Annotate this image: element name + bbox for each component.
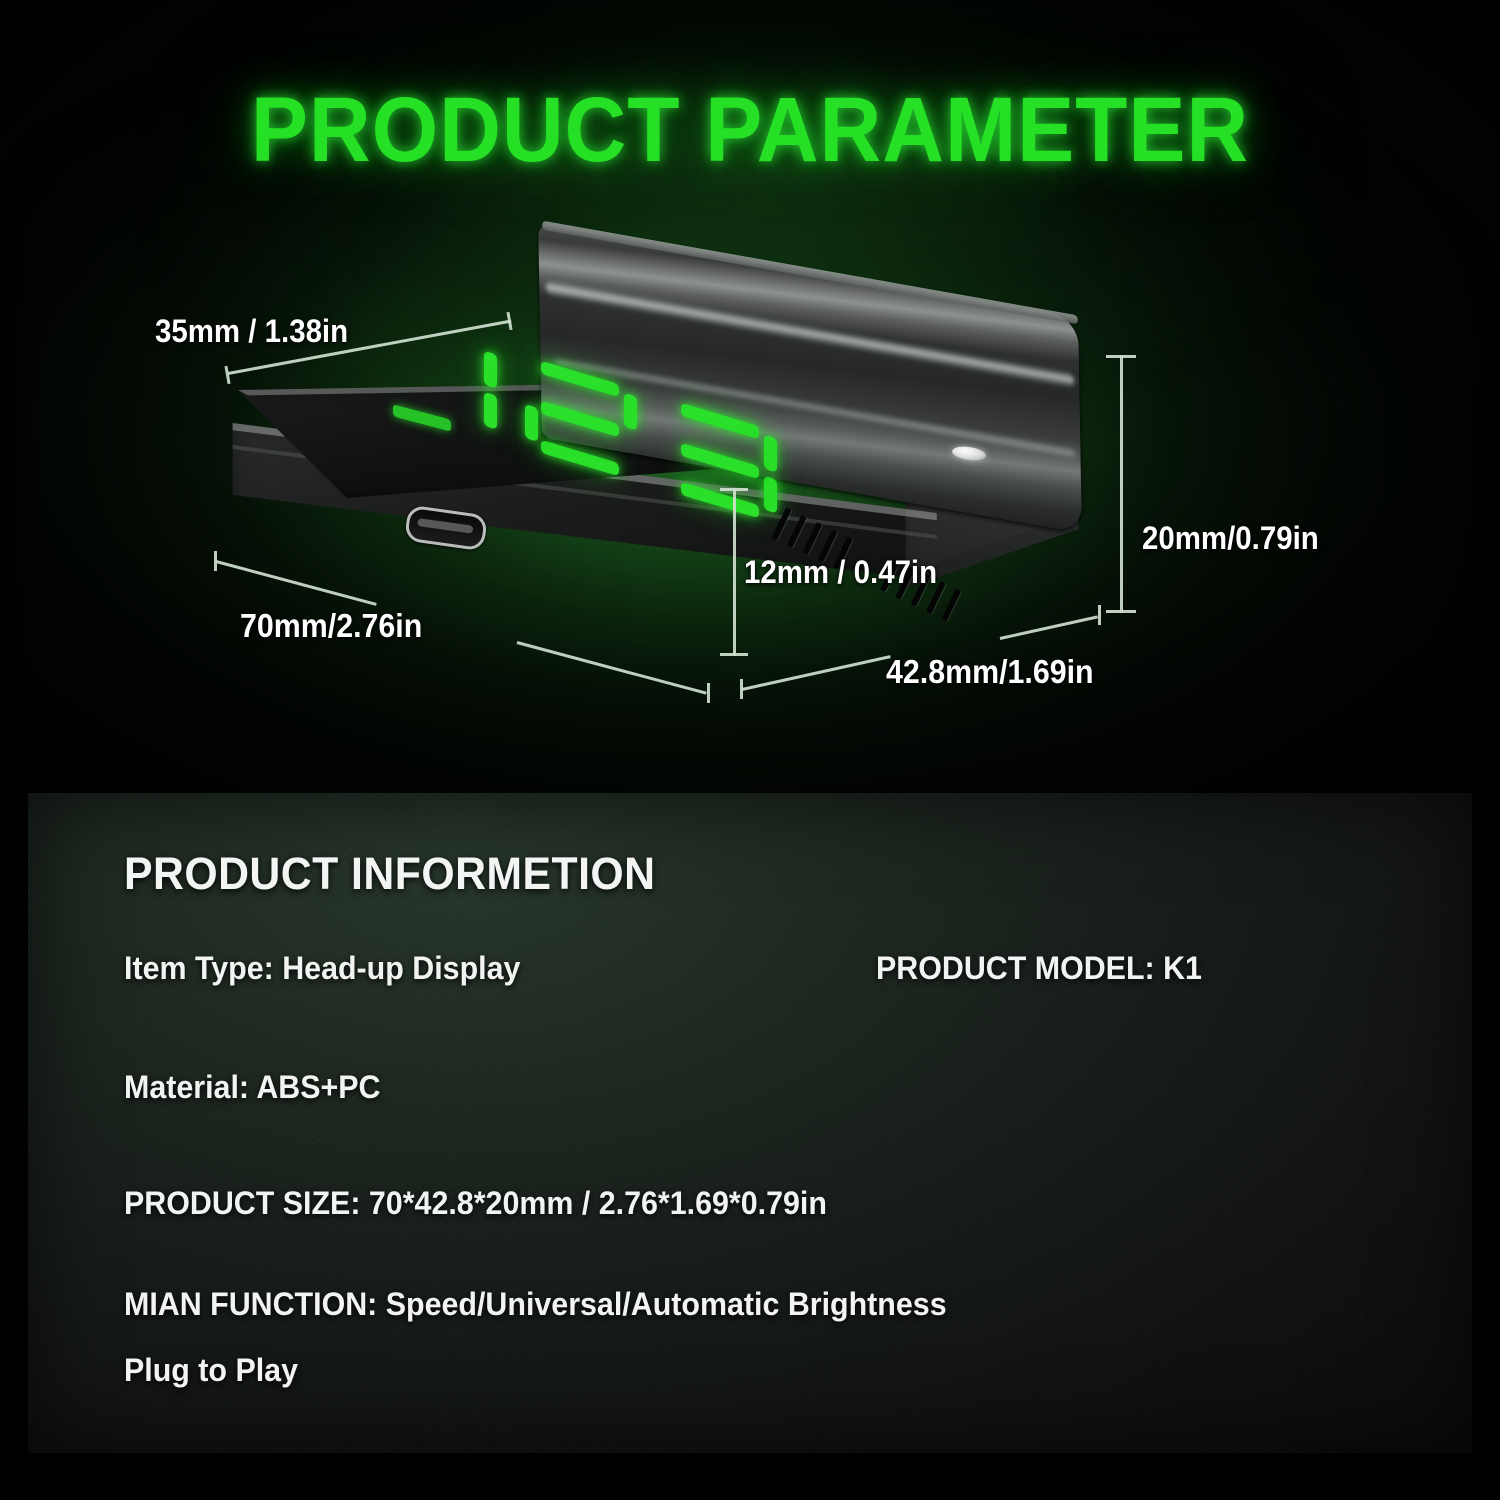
dimension-label-width: 70mm/2.76in [240,607,422,645]
usb-c-port-inner [417,518,474,534]
product-information-panel: PRODUCT INFORMETION Item Type: Head-up D… [28,793,1472,1453]
dimension-label-total-height: 20mm/0.79in [1142,520,1319,557]
dimension-tick-body-height-top [720,488,748,491]
dimension-line-body-height [733,488,736,656]
dimension-tick-total-height-bottom [1106,610,1136,613]
dimension-tick-total-height-top [1106,355,1136,358]
page-title: PRODUCT PARAMETER [53,78,1448,183]
info-row-product-size: PRODUCT SIZE: 70*42.8*20mm / 2.76*1.69*0… [124,1185,827,1222]
info-row-product-model: PRODUCT MODEL: K1 [876,950,1202,987]
dimension-tick-depth-base-right [1098,605,1101,625]
info-row-item-type: Item Type: Head-up Display [124,950,520,987]
dimension-tick-width-left [214,551,217,571]
dimension-tick-width-right [707,683,710,703]
dimension-tick-body-height-bottom [720,653,748,656]
dimension-label-depth: 35mm / 1.38in [155,313,348,350]
dimension-tick-depth-base-left [740,679,743,699]
dimension-label-depth-base: 42.8mm/1.69in [886,653,1094,691]
product-parameter-page: PRODUCT PARAMETER [0,0,1500,1500]
info-row-main-function: MIAN FUNCTION: Speed/Universal/Automatic… [124,1286,947,1323]
led-display [385,407,1005,502]
dimension-label-body-height: 12mm / 0.47in [744,554,937,591]
panel-title: PRODUCT INFORMETION [124,848,656,900]
info-row-material: Material: ABS+PC [124,1069,381,1106]
dimension-line-total-height [1120,355,1123,613]
info-row-plug-to-play: Plug to Play [124,1352,298,1389]
